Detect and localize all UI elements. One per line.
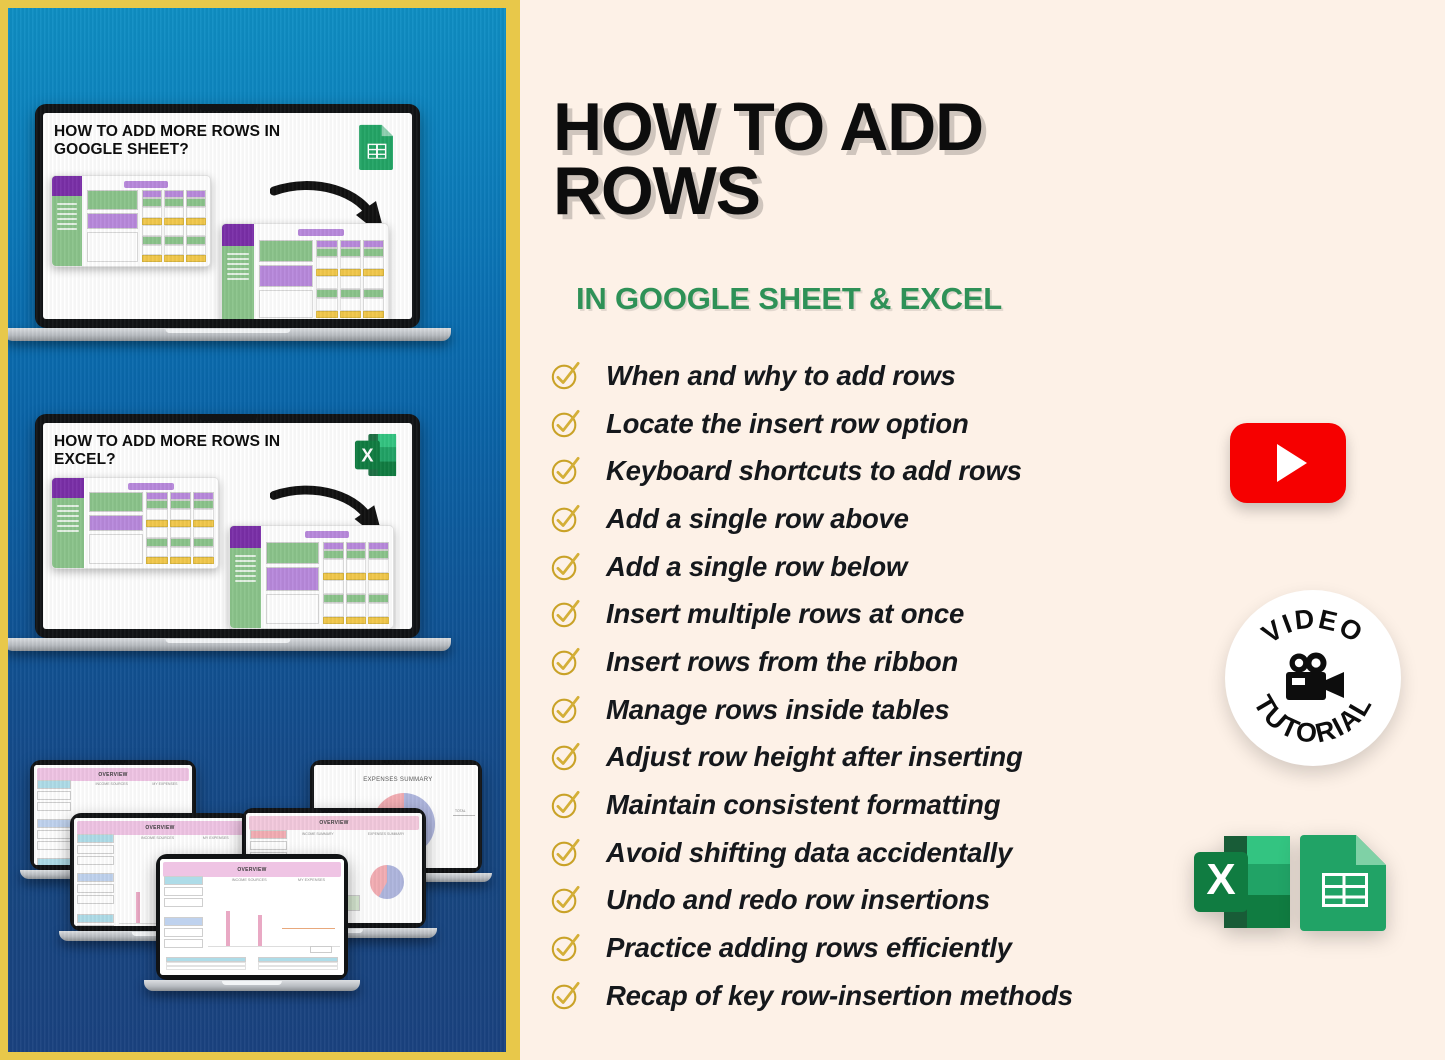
google-sheets-icon — [358, 123, 396, 170]
spreadsheet-preview-back — [51, 175, 211, 267]
youtube-play-icon — [1277, 444, 1307, 482]
check-circle-icon — [550, 695, 580, 725]
checklist-item: Add a single row below — [550, 543, 1190, 591]
spreadsheet-preview-back — [51, 477, 219, 569]
check-circle-icon — [550, 456, 580, 486]
page-title: HOW TO ADD ROWS — [553, 96, 1113, 224]
checklist-item-label: Add a single row above — [606, 503, 909, 535]
google-sheets-icon[interactable] — [1298, 833, 1390, 931]
video-tutorial-badge[interactable]: VIDEO TUTORIAL — [1225, 590, 1401, 766]
checklist-item: Undo and redo row insertions — [550, 877, 1190, 925]
spreadsheet-preview-front — [229, 525, 394, 629]
youtube-badge[interactable] — [1230, 423, 1346, 503]
video-camera-icon — [1278, 652, 1348, 704]
svg-text:X: X — [361, 446, 373, 466]
laptop-mockup-excel: HOW TO ADD MORE ROWS IN EXCEL? X — [35, 414, 420, 651]
page-title-line1: HOW TO ADD — [553, 96, 1113, 160]
check-circle-icon — [550, 552, 580, 582]
check-circle-icon — [550, 790, 580, 820]
laptop-screen-excel: HOW TO ADD MORE ROWS IN EXCEL? X — [43, 423, 412, 629]
checklist-item-label: Add a single row below — [606, 551, 907, 583]
checklist-item-label: When and why to add rows — [606, 360, 956, 392]
svg-text:VIDEO: VIDEO — [1256, 603, 1369, 649]
checklist-item: Add a single row above — [550, 495, 1190, 543]
checklist-item: Adjust row height after inserting — [550, 734, 1190, 782]
checklist-item-label: Practice adding rows efficiently — [606, 932, 1012, 964]
checklist-item: Locate the insert row option — [550, 400, 1190, 448]
dashboard-title: OVERVIEW — [319, 820, 348, 826]
laptop-notch — [199, 414, 257, 421]
checklist-item: Recap of key row-insertion methods — [550, 972, 1190, 1020]
check-circle-icon — [550, 599, 580, 629]
app-icons-group: X — [1192, 833, 1390, 931]
mockup-headline-excel: HOW TO ADD MORE ROWS IN EXCEL? — [43, 423, 316, 470]
checklist-item-label: Insert rows from the ribbon — [606, 646, 958, 678]
dashboard-title: OVERVIEW — [145, 825, 174, 831]
check-circle-icon — [550, 647, 580, 677]
svg-text:X: X — [1206, 855, 1235, 904]
checklist-item: Practice adding rows efficiently — [550, 924, 1190, 972]
page-title-line2: ROWS — [553, 160, 1113, 224]
checklist-item: Insert rows from the ribbon — [550, 638, 1190, 686]
checklist-item: Keyboard shortcuts to add rows — [550, 447, 1190, 495]
dashboard-title: OVERVIEW — [237, 867, 266, 873]
check-circle-icon — [550, 838, 580, 868]
check-circle-icon — [550, 885, 580, 915]
dashboard-laptop-overview-4: OVERVIEW INCOME SOURCES MY EXPENSES — [156, 854, 348, 991]
checklist-item-label: Adjust row height after inserting — [606, 741, 1023, 773]
check-circle-icon — [550, 504, 580, 534]
check-circle-icon — [550, 361, 580, 391]
content-panel: HOW TO ADD ROWS IN GOOGLE SHEET & EXCEL … — [520, 0, 1445, 1060]
mockup-headline-google: HOW TO ADD MORE ROWS IN GOOGLE SHEET? — [43, 113, 316, 160]
checklist-item: Insert multiple rows at once — [550, 590, 1190, 638]
excel-icon[interactable]: X — [1192, 834, 1292, 930]
checklist-item-label: Insert multiple rows at once — [606, 598, 964, 630]
checklist-item-label: Avoid shifting data accidentally — [606, 837, 1012, 869]
left-showcase-panel: HOW TO ADD MORE ROWS IN GOOGLE SHEET? — [0, 0, 520, 1060]
check-circle-icon — [550, 933, 580, 963]
checklist-item: Maintain consistent formatting — [550, 781, 1190, 829]
checklist-item-label: Recap of key row-insertion methods — [606, 980, 1073, 1012]
checklist-item-label: Manage rows inside tables — [606, 694, 949, 726]
checklist-item-label: Locate the insert row option — [606, 408, 969, 440]
feature-checklist: When and why to add rows Locate the inse… — [550, 352, 1190, 1020]
excel-icon: X — [354, 432, 398, 478]
spreadsheet-preview-front — [221, 223, 389, 319]
check-circle-icon — [550, 742, 580, 772]
blue-gradient-stage: HOW TO ADD MORE ROWS IN GOOGLE SHEET? — [8, 8, 506, 1052]
laptop-screen-google: HOW TO ADD MORE ROWS IN GOOGLE SHEET? — [43, 113, 412, 319]
dashboard-title: EXPENSES SUMMARY — [363, 777, 432, 783]
laptop-base — [8, 638, 451, 651]
page-subtitle: IN GOOGLE SHEET & EXCEL — [576, 281, 1002, 317]
check-circle-icon — [550, 981, 580, 1011]
checklist-item-label: Maintain consistent formatting — [606, 789, 1000, 821]
checklist-item: Avoid shifting data accidentally — [550, 829, 1190, 877]
check-circle-icon — [550, 409, 580, 439]
laptop-base — [8, 328, 451, 341]
laptop-notch — [199, 104, 257, 111]
checklist-item: When and why to add rows — [550, 352, 1190, 400]
checklist-item: Manage rows inside tables — [550, 686, 1190, 734]
checklist-item-label: Keyboard shortcuts to add rows — [606, 455, 1022, 487]
laptop-mockup-google-sheet: HOW TO ADD MORE ROWS IN GOOGLE SHEET? — [35, 104, 420, 341]
checklist-item-label: Undo and redo row insertions — [606, 884, 990, 916]
dashboard-title: OVERVIEW — [98, 772, 127, 778]
